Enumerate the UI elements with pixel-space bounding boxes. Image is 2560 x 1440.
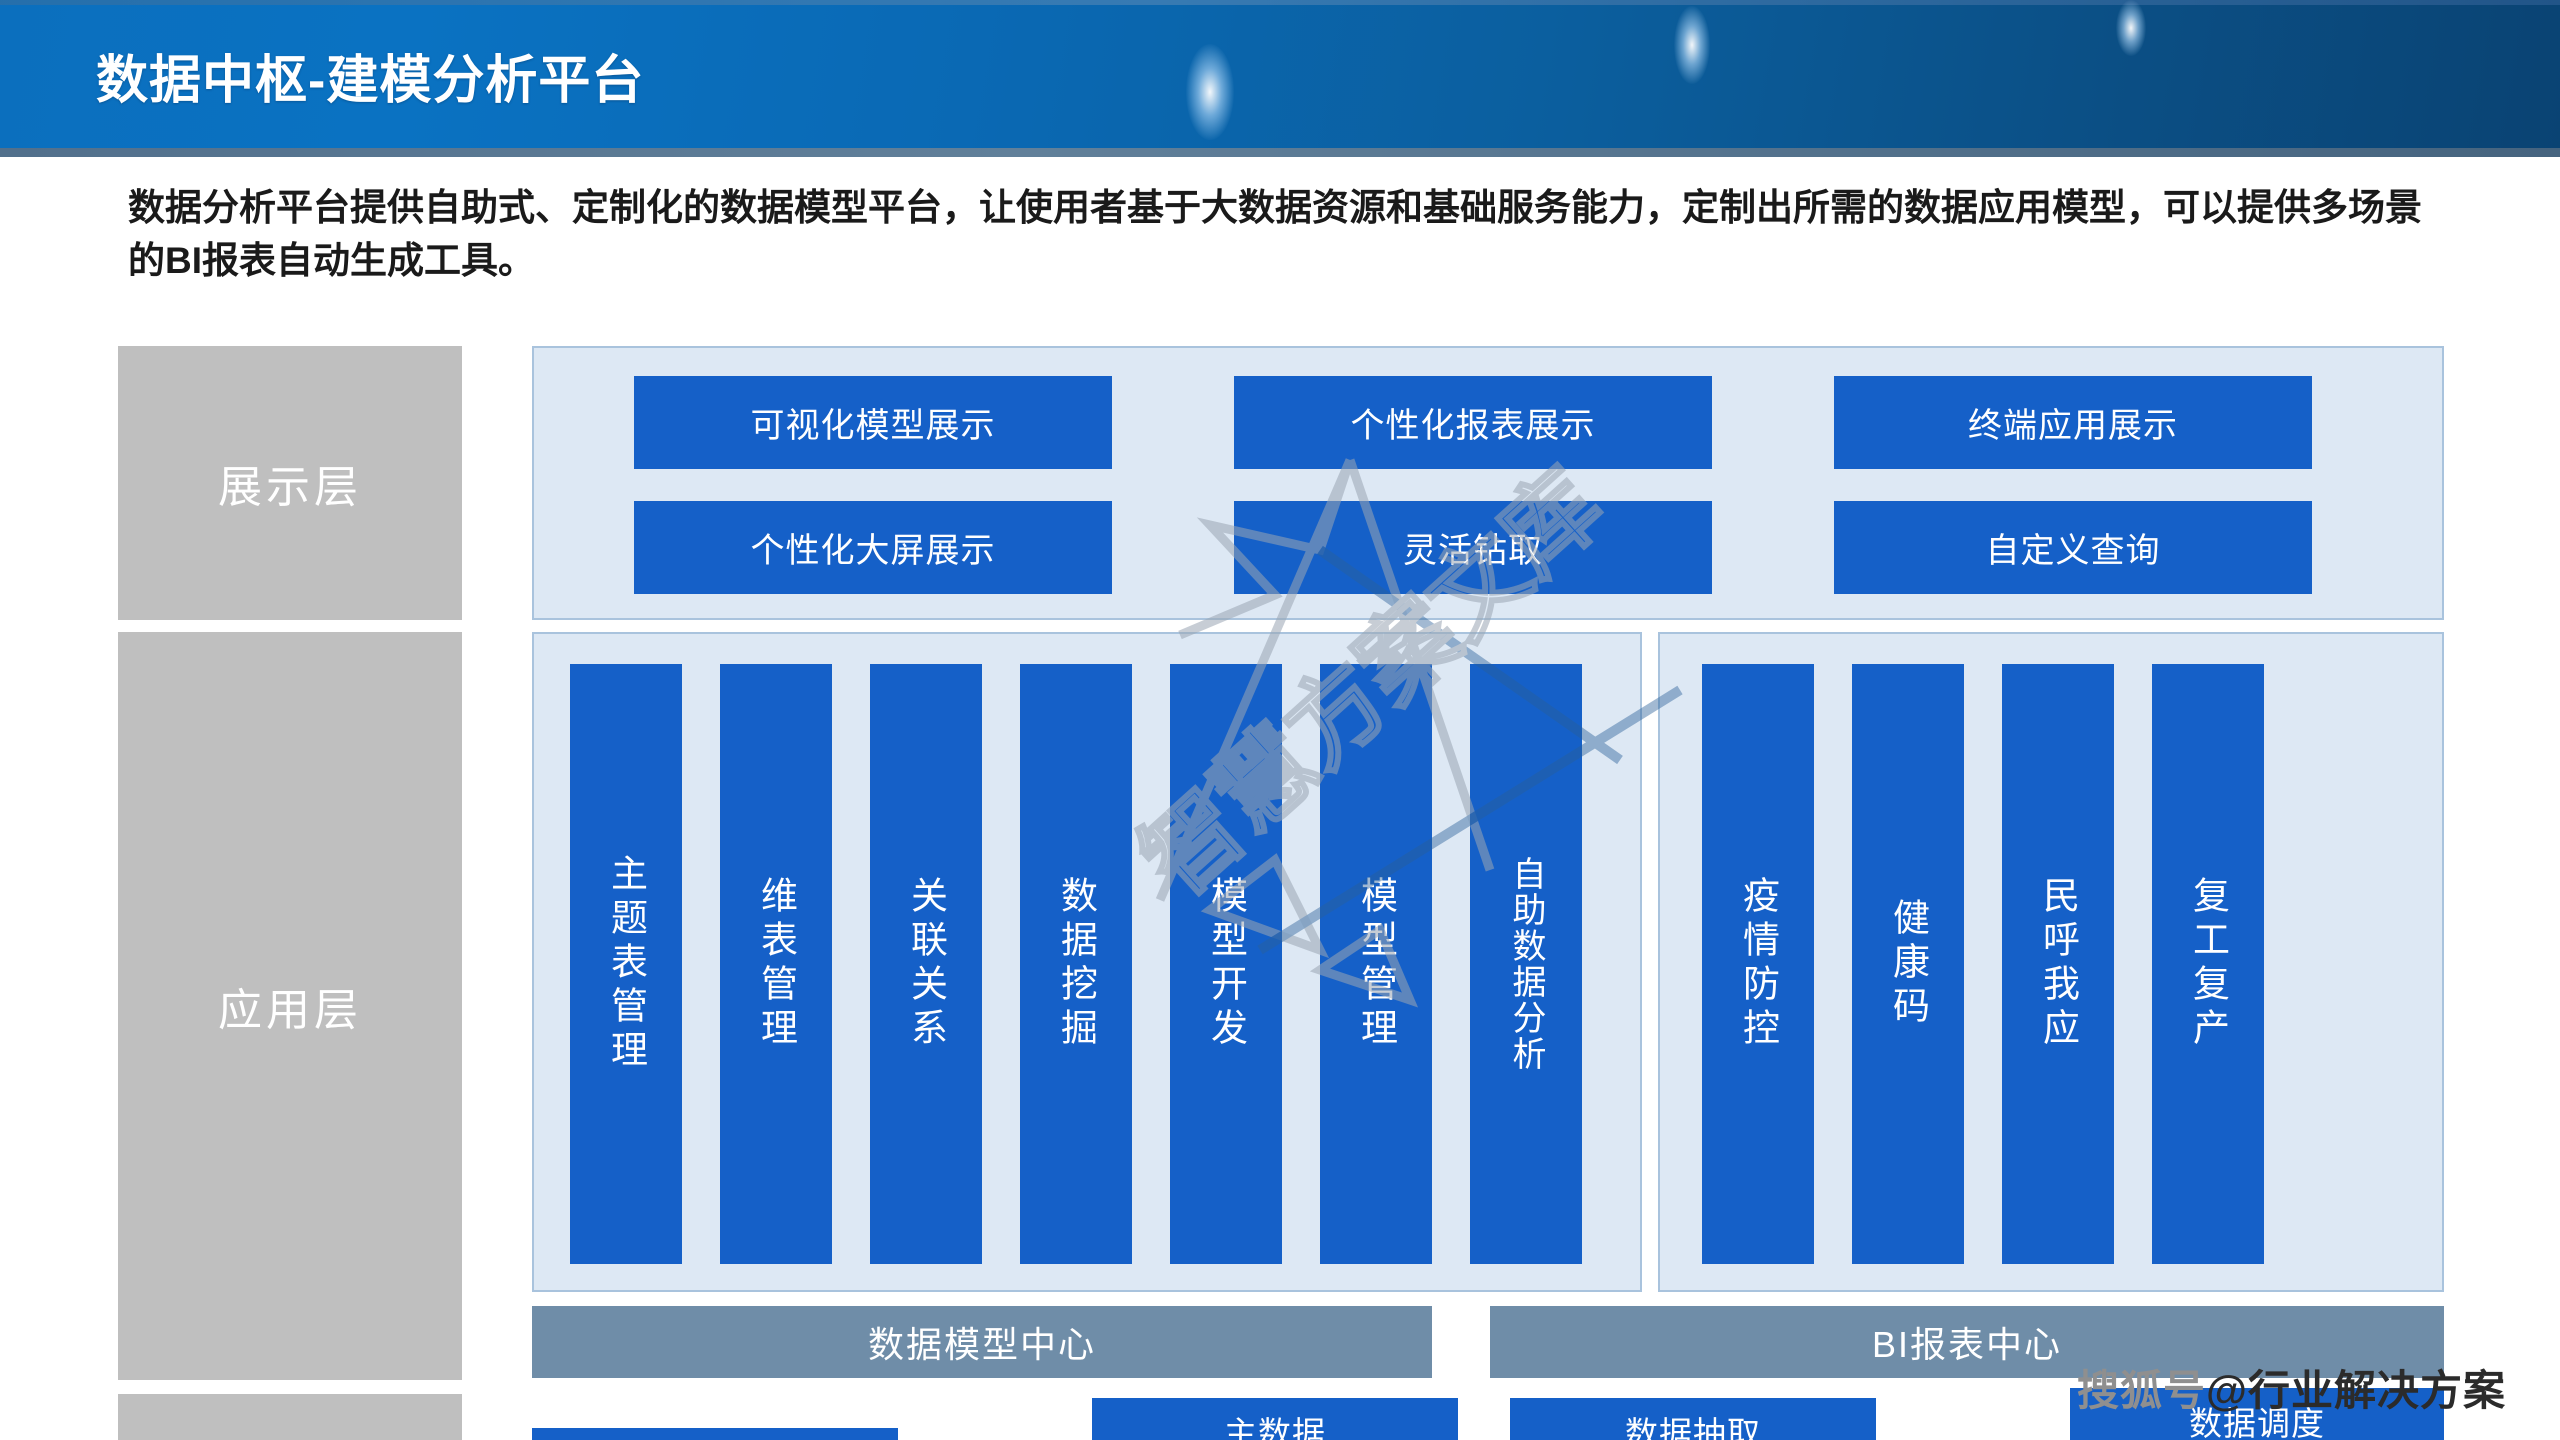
presentation-item[interactable]: 个性化大屏展示 bbox=[634, 501, 1112, 594]
presentation-item[interactable]: 灵活钻取 bbox=[1234, 501, 1712, 594]
presentation-column: 可视化模型展示 个性化大屏展示 bbox=[634, 376, 1112, 594]
data-item[interactable]: 数据抽取 bbox=[1510, 1398, 1876, 1440]
application-item[interactable]: 模型管理 bbox=[1320, 664, 1432, 1264]
footer-brand: 搜狐号@行业解决方案 bbox=[2077, 1357, 2506, 1418]
application-layer-left-panel: 主题表管理 维表管理 关联关系 数据挖掘 模型开发 模型管理 自助数据分析 bbox=[532, 632, 1642, 1292]
application-item[interactable]: 自助数据分析 bbox=[1470, 664, 1582, 1264]
header-bottom-accent-line bbox=[0, 148, 2560, 157]
page-header: 数据中枢-建模分析平台 bbox=[0, 0, 2560, 157]
header-spark-icon bbox=[1186, 44, 1234, 140]
presentation-column: 终端应用展示 自定义查询 bbox=[1834, 376, 2312, 594]
footer-brand-prefix: 搜狐号 bbox=[2077, 1367, 2206, 1414]
application-item[interactable]: 模型开发 bbox=[1170, 664, 1282, 1264]
data-column: 数据抽取 数据清洗 bbox=[1510, 1398, 1876, 1440]
presentation-column: 个性化报表展示 灵活钻取 bbox=[1234, 376, 1712, 594]
layer-label-data: 数据层 bbox=[118, 1394, 462, 1440]
data-column: 指标库 数据仓库 bbox=[532, 1428, 898, 1440]
presentation-item[interactable]: 终端应用展示 bbox=[1834, 376, 2312, 469]
application-item[interactable]: 数据挖掘 bbox=[1020, 664, 1132, 1264]
application-item[interactable]: 疫情防控 bbox=[1702, 664, 1814, 1264]
data-item[interactable]: 指标库 bbox=[532, 1428, 898, 1440]
header-spark-icon bbox=[1674, 6, 1710, 84]
application-item[interactable]: 复工复产 bbox=[2152, 664, 2264, 1264]
architecture-diagram: 展示层 应用层 数据层 可视化模型展示 个性化大屏展示 个性化报表展示 灵活钻取… bbox=[0, 330, 2560, 1340]
center-bar-data-model[interactable]: 数据模型中心 bbox=[532, 1306, 1432, 1378]
intro-paragraph: 数据分析平台提供自助式、定制化的数据模型平台，让使用者基于大数据资源和基础服务能… bbox=[128, 182, 2428, 287]
data-item[interactable]: 主数据 bbox=[1092, 1398, 1458, 1440]
application-item[interactable]: 维表管理 bbox=[720, 664, 832, 1264]
header-spark-icon bbox=[2116, 0, 2146, 56]
presentation-item[interactable]: 可视化模型展示 bbox=[634, 376, 1112, 469]
presentation-item[interactable]: 自定义查询 bbox=[1834, 501, 2312, 594]
header-top-accent-line bbox=[0, 0, 2560, 5]
application-item[interactable]: 主题表管理 bbox=[570, 664, 682, 1264]
layer-label-presentation: 展示层 bbox=[118, 346, 462, 620]
page-title: 数据中枢-建模分析平台 bbox=[96, 38, 644, 113]
slide-root: 数据中枢-建模分析平台 数据分析平台提供自助式、定制化的数据模型平台，让使用者基… bbox=[0, 0, 2560, 1440]
application-item[interactable]: 关联关系 bbox=[870, 664, 982, 1264]
footer-brand-suffix: @行业解决方案 bbox=[2206, 1367, 2506, 1414]
layer-label-application: 应用层 bbox=[118, 632, 462, 1380]
application-item[interactable]: 健康码 bbox=[1852, 664, 1964, 1264]
application-item[interactable]: 民呼我应 bbox=[2002, 664, 2114, 1264]
application-layer-right-panel: 疫情防控 健康码 民呼我应 复工复产 bbox=[1658, 632, 2444, 1292]
presentation-layer-panel: 可视化模型展示 个性化大屏展示 个性化报表展示 灵活钻取 终端应用展示 自定义查… bbox=[532, 346, 2444, 620]
data-column: 主数据 数据源 bbox=[1092, 1398, 1458, 1440]
presentation-item[interactable]: 个性化报表展示 bbox=[1234, 376, 1712, 469]
